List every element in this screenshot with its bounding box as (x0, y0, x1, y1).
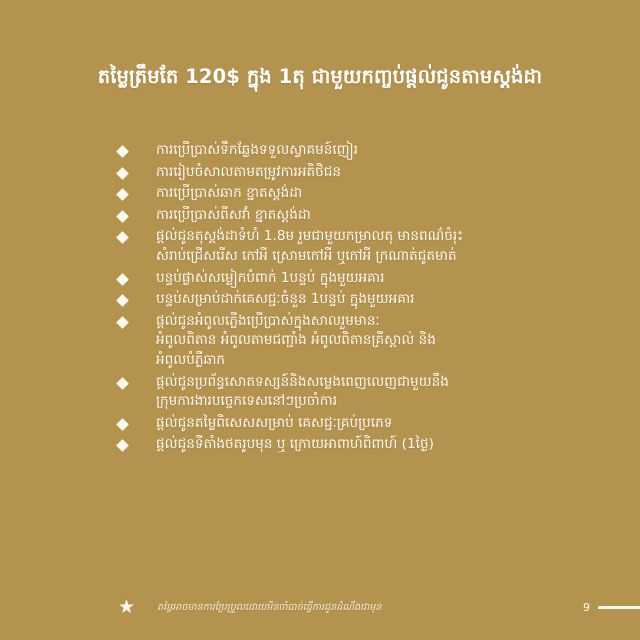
diamond-bullet-icon (118, 414, 156, 429)
diamond-bullet-icon (118, 290, 156, 305)
page-title: តម្លៃត្រឹមតែ 120$ ក្នុង 1តុ ជាមួយកញ្ចប់ផ… (30, 62, 610, 92)
page-rule-divider (598, 606, 640, 609)
list-item-line: អំពូលពិតាន អំពូលតាមជញ្ជាំង អំពូលពិតានគ្រ… (156, 331, 600, 351)
diamond-bullet-icon (118, 141, 156, 156)
page-number-container: 9 (583, 602, 640, 613)
slide-canvas: តម្លៃត្រឹមតែ 120$ ក្នុង 1តុ ជាមួយកញ្ចប់ផ… (0, 0, 640, 640)
list-item: ផ្តល់ជូនទីតាំងថតរូបមុន ឬ ក្រោយអាពាហ៍ពិពា… (118, 435, 600, 455)
list-item-text: ការប្រើប្រាស់ពីសវាំ ខ្នាតស្តង់ដា (156, 206, 600, 226)
star-icon: ★ (118, 599, 135, 616)
list-item-line: ការរៀបចំសាលតាមតម្រូវការអតិថិជន (156, 163, 600, 183)
list-item: ការប្រើប្រាស់ឆាក ខ្នាតស្តង់ដា (118, 184, 600, 204)
list-item-text: ផ្តល់ជូនអំពូលភ្លើងប្រើប្រាស់ក្នុងសាលរួមម… (156, 312, 600, 371)
list-item-line: ផ្តល់ជូនតម្លៃពិសេសសម្រាប់ គេសជ្ជៈគ្រប់ប្… (156, 414, 600, 434)
list-item-text: ផ្តល់ជូនទីតាំងថតរូបមុន ឬ ក្រោយអាពាហ៍ពិពា… (156, 435, 600, 455)
list-item-line: ផ្តល់ជូនប្រព័ន្ធសោតទស្សន៍និងសម្លេងពេញលេញ… (156, 373, 600, 393)
diamond-bullet-icon (118, 184, 156, 199)
list-item-line: ការប្រើប្រាស់ទឹកឆ្លែងទទួលស្វាគមន៍ញៀរ (156, 141, 600, 161)
list-item-line: ផ្តល់ជូនទីតាំងថតរូបមុន ឬ ក្រោយអាពាហ៍ពិពា… (156, 435, 600, 455)
footer-disclaimer: តម្លៃអាចមានការប្រែប្រួលដោយមិនចាំបាច់ធ្វើ… (157, 601, 381, 615)
diamond-bullet-icon (118, 206, 156, 221)
list-item-text: ការរៀបចំសាលតាមតម្រូវការអតិថិជន (156, 163, 600, 183)
list-item: បន្ទប់សម្រាប់ដាក់គេសជ្ជៈចំនួន 1បន្ទប់ ក្… (118, 290, 600, 310)
list-item: ផ្តល់ជូនប្រព័ន្ធសោតទស្សន៍និងសម្លេងពេញលេញ… (118, 373, 600, 412)
list-item-line: ការប្រើប្រាស់ពីសវាំ ខ្នាតស្តង់ដា (156, 206, 600, 226)
list-item-line: សំរាប់ជ្រើសរើស កៅអី ស្រោមកៅអី ឬកៅអី ក្រណ… (156, 247, 600, 267)
list-item-line: ផ្តល់ជូនអំពូលភ្លើងប្រើប្រាស់ក្នុងសាលរួមម… (156, 312, 600, 332)
list-item-line: បន្ទប់ផ្លាស់សម្លៀកបំពាក់ 1បន្ទប់ ក្នុងមួ… (156, 269, 600, 289)
list-item-text: បន្ទប់សម្រាប់ដាក់គេសជ្ជៈចំនួន 1បន្ទប់ ក្… (156, 290, 600, 310)
diamond-bullet-icon (118, 373, 156, 388)
list-item: ផ្តល់ជូនតម្លៃពិសេសសម្រាប់ គេសជ្ជៈគ្រប់ប្… (118, 414, 600, 434)
list-item: ការប្រើប្រាស់ទឹកឆ្លែងទទួលស្វាគមន៍ញៀរ (118, 141, 600, 161)
slide-title-container: តម្លៃត្រឹមតែ 120$ ក្នុង 1តុ ជាមួយកញ្ចប់ផ… (0, 62, 640, 92)
list-item: បន្ទប់ផ្លាស់សម្លៀកបំពាក់ 1បន្ទប់ ក្នុងមួ… (118, 269, 600, 289)
list-item-line: ក្រុមការងារបច្ចេកទេសនៅៗប្រចាំការ (156, 392, 600, 412)
diamond-bullet-icon (118, 435, 156, 450)
list-item-line: អំពូលបំភ្លឺឆាក (156, 351, 600, 371)
list-item-text: ការប្រើប្រាស់ឆាក ខ្នាតស្តង់ដា (156, 184, 600, 204)
diamond-bullet-icon (118, 163, 156, 178)
list-item-text: ផ្តល់ជូនប្រព័ន្ធសោតទស្សន៍និងសម្លេងពេញលេញ… (156, 373, 600, 412)
list-item: ផ្តល់ជូនតុស្តង់ដាទំហំ 1.8ម រួមជាមួយកម្រា… (118, 227, 600, 266)
list-item: ការរៀបចំសាលតាមតម្រូវការអតិថិជន (118, 163, 600, 183)
list-item-line: ការប្រើប្រាស់ឆាក ខ្នាតស្តង់ដា (156, 184, 600, 204)
list-item: ផ្តល់ជូនអំពូលភ្លើងប្រើប្រាស់ក្នុងសាលរួមម… (118, 312, 600, 371)
benefits-list: ការប្រើប្រាស់ទឹកឆ្លែងទទួលស្វាគមន៍ញៀរ ការ… (118, 141, 600, 457)
list-item-text: បន្ទប់ផ្លាស់សម្លៀកបំពាក់ 1បន្ទប់ ក្នុងមួ… (156, 269, 600, 289)
list-item-line: ផ្តល់ជូនតុស្តង់ដាទំហំ 1.8ម រួមជាមួយកម្រា… (156, 227, 600, 247)
diamond-bullet-icon (118, 269, 156, 284)
page-number: 9 (583, 602, 590, 613)
list-item-line: បន្ទប់សម្រាប់ដាក់គេសជ្ជៈចំនួន 1បន្ទប់ ក្… (156, 290, 600, 310)
list-item-text: ផ្តល់ជូនតម្លៃពិសេសសម្រាប់ គេសជ្ជៈគ្រប់ប្… (156, 414, 600, 434)
footer-note-container: ★ តម្លៃអាចមានការប្រែប្រួលដោយមិនចាំបាច់ធ្… (118, 599, 381, 616)
list-item-text: ផ្តល់ជូនតុស្តង់ដាទំហំ 1.8ម រួមជាមួយកម្រា… (156, 227, 600, 266)
list-item-text: ការប្រើប្រាស់ទឹកឆ្លែងទទួលស្វាគមន៍ញៀរ (156, 141, 600, 161)
diamond-bullet-icon (118, 312, 156, 327)
list-item: ការប្រើប្រាស់ពីសវាំ ខ្នាតស្តង់ដា (118, 206, 600, 226)
diamond-bullet-icon (118, 227, 156, 242)
